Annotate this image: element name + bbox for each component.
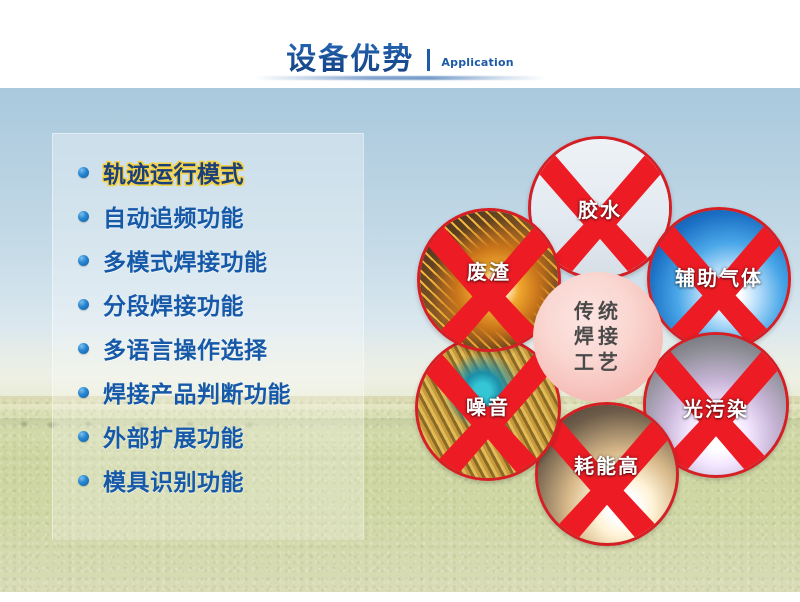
diagram-node-label: 辅助气体	[650, 262, 788, 291]
feature-item: 分段焊接功能	[78, 282, 408, 326]
bullet-icon	[78, 343, 89, 354]
feature-item: 轨迹运行模式	[78, 150, 408, 194]
diagram-center-line: 传统	[574, 299, 622, 325]
feature-item: 自动追频功能	[78, 194, 408, 238]
diagram-center-line: 焊接	[574, 324, 622, 350]
feature-item-label: 多模式焊接功能	[103, 243, 268, 277]
bullet-icon	[78, 475, 89, 486]
diagram-center-node: 传统焊接工艺	[533, 272, 663, 402]
feature-item-label: 焊接产品判断功能	[103, 375, 291, 409]
feature-item-label: 自动追频功能	[103, 199, 244, 233]
diagram-node-label: 耗能高	[538, 450, 676, 479]
diagram-node-label: 光污染	[646, 393, 786, 422]
feature-item-label: 模具识别功能	[103, 463, 244, 497]
page-header: 设备优势 Application	[0, 0, 800, 89]
diagram-node-label: 噪音	[418, 391, 558, 420]
bullet-icon	[78, 255, 89, 266]
feature-item: 多语言操作选择	[78, 326, 408, 370]
diagram-node-label: 胶水	[531, 194, 669, 223]
feature-item: 多模式焊接功能	[78, 238, 408, 282]
page-title: 设备优势 Application	[0, 34, 800, 78]
title-divider-bar	[427, 49, 430, 71]
feature-item: 模具识别功能	[78, 458, 408, 502]
footer-background	[0, 592, 800, 602]
bullet-icon	[78, 299, 89, 310]
title-underline	[255, 76, 545, 80]
page-title-en: Application	[441, 56, 513, 69]
feature-item: 外部扩展功能	[78, 414, 408, 458]
bullet-icon	[78, 431, 89, 442]
feature-item-label: 轨迹运行模式	[103, 155, 244, 189]
feature-item-label: 分段焊接功能	[103, 287, 244, 321]
feature-item: 焊接产品判断功能	[78, 370, 408, 414]
bullet-icon	[78, 167, 89, 178]
feature-list: 轨迹运行模式自动追频功能多模式焊接功能分段焊接功能多语言操作选择焊接产品判断功能…	[78, 150, 408, 502]
feature-item-label: 多语言操作选择	[103, 331, 268, 365]
bullet-icon	[78, 211, 89, 222]
diagram-node-label: 废渣	[420, 256, 558, 285]
bullet-icon	[78, 387, 89, 398]
traditional-welding-diagram: 胶水辅助气体光污染耗能高噪音废渣传统焊接工艺	[395, 130, 795, 550]
page-title-cn: 设备优势	[286, 34, 414, 78]
diagram-center-line: 工艺	[574, 350, 622, 376]
diagram-node: 辅助气体	[647, 207, 791, 351]
feature-item-label: 外部扩展功能	[103, 419, 244, 453]
slide-canvas: 设备优势 Application 轨迹运行模式自动追频功能多模式焊接功能分段焊接…	[0, 0, 800, 602]
